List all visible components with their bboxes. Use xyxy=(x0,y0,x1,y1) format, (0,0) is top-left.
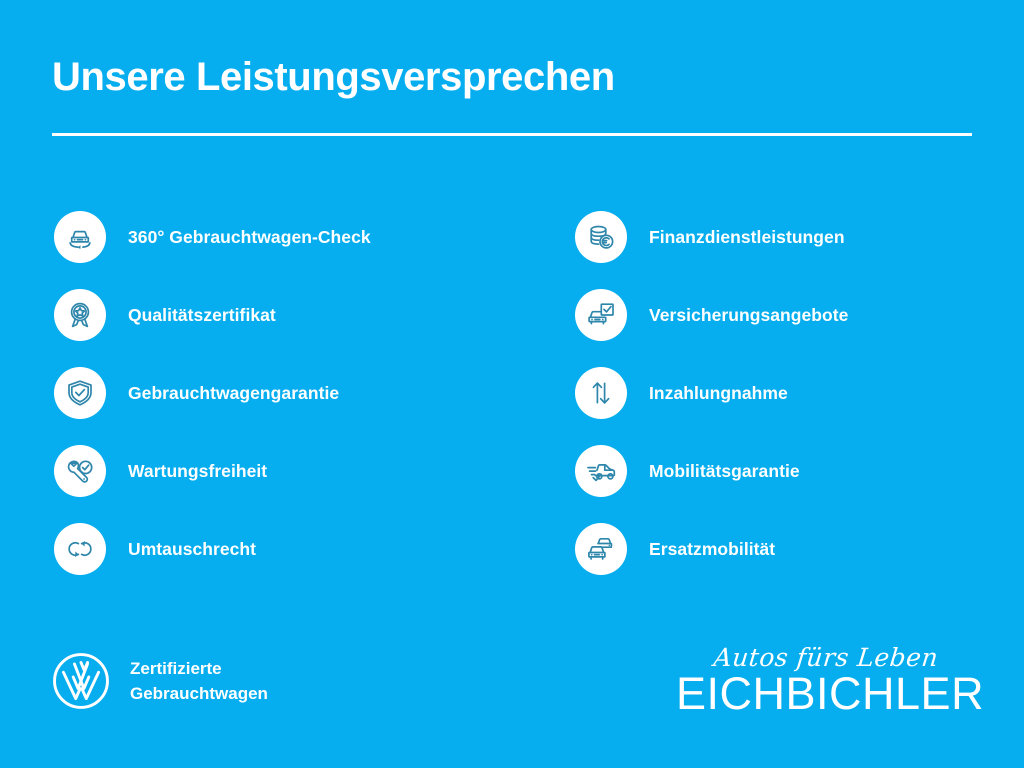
award-rosette-icon xyxy=(54,289,106,341)
feature-label: Mobilitätsgarantie xyxy=(649,461,800,482)
vw-text-line-1: Zertifizierte xyxy=(130,656,268,682)
feature-item-maintenance-free[interactable]: Wartungsfreiheit xyxy=(54,432,524,510)
feature-label: Wartungsfreiheit xyxy=(128,461,267,482)
arrows-up-down-icon xyxy=(575,367,627,419)
wrench-check-icon xyxy=(54,445,106,497)
feature-label: Umtauschrecht xyxy=(128,539,256,560)
vw-certified-text: Zertifizierte Gebrauchtwagen xyxy=(130,656,268,707)
feature-item-quality-certificate[interactable]: Qualitätszertifikat xyxy=(54,276,524,354)
car-360-check-icon xyxy=(54,211,106,263)
slide-root: Unsere Leistungsversprechen xyxy=(0,0,1024,768)
feature-label: Gebrauchtwagengarantie xyxy=(128,383,339,404)
feature-item-replacement-mobility[interactable]: Ersatzmobilität xyxy=(575,510,1024,588)
feature-item-360-check[interactable]: 360° Gebrauchtwagen-Check xyxy=(54,198,524,276)
coins-euro-icon xyxy=(575,211,627,263)
feature-label: 360° Gebrauchtwagen-Check xyxy=(128,227,371,248)
vw-text-line-2: Gebrauchtwagen xyxy=(130,681,268,707)
feature-item-warranty[interactable]: Gebrauchtwagengarantie xyxy=(54,354,524,432)
feature-label: Ersatzmobilität xyxy=(649,539,775,560)
exchange-arrows-icon xyxy=(54,523,106,575)
title-divider xyxy=(52,133,972,136)
feature-label: Inzahlungnahme xyxy=(649,383,788,404)
feature-item-financial-services[interactable]: Finanzdienstleistungen xyxy=(575,198,1024,276)
feature-item-insurance-offers[interactable]: Versicherungsangebote xyxy=(575,276,1024,354)
dealer-name: EICHBICHLER xyxy=(676,671,976,717)
feature-label: Qualitätszertifikat xyxy=(128,305,276,326)
features-right-column: Finanzdienstleistungen xyxy=(575,198,1024,588)
feature-label: Finanzdienstleistungen xyxy=(649,227,845,248)
car-speed-check-icon xyxy=(575,445,627,497)
shield-check-icon xyxy=(54,367,106,419)
feature-label: Versicherungsangebote xyxy=(649,305,848,326)
footer-vw-block: Zertifizierte Gebrauchtwagen xyxy=(52,652,268,710)
two-cars-icon xyxy=(575,523,627,575)
car-checkbox-icon xyxy=(575,289,627,341)
footer-dealer-block: Autos fürs Leben EICHBICHLER xyxy=(676,645,976,717)
dealer-slogan: Autos fürs Leben xyxy=(675,645,978,670)
feature-item-trade-in[interactable]: Inzahlungnahme xyxy=(575,354,1024,432)
page-title: Unsere Leistungsversprechen xyxy=(52,54,615,100)
feature-item-exchange-right[interactable]: Umtauschrecht xyxy=(54,510,524,588)
volkswagen-logo xyxy=(52,652,110,710)
feature-item-mobility-guarantee[interactable]: Mobilitätsgarantie xyxy=(575,432,1024,510)
features-left-column: 360° Gebrauchtwagen-Check Qualitätszerti… xyxy=(54,198,524,588)
